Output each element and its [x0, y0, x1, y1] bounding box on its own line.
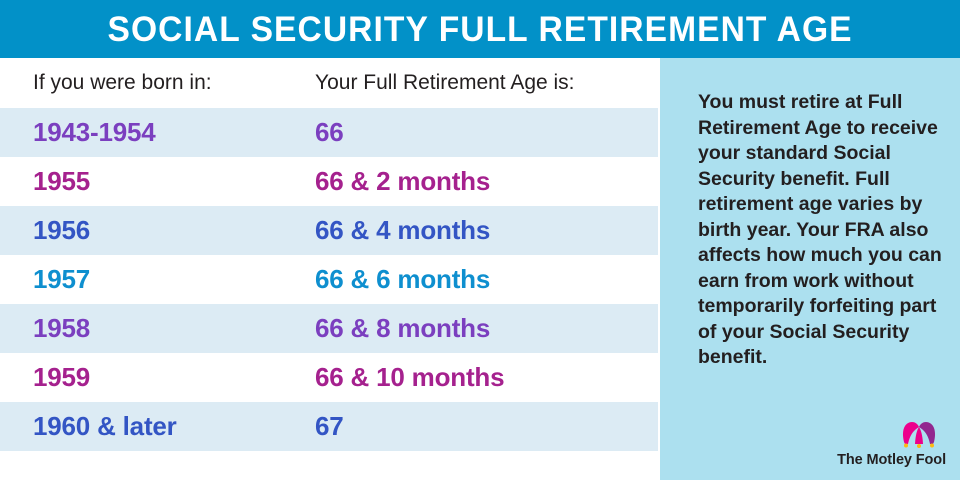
logo-wordmark: The Motley Fool: [837, 452, 946, 468]
motley-fool-logo: The Motley Fool: [836, 422, 948, 470]
table-row: 1960 & later 67: [0, 402, 658, 451]
cell-birth-year: 1959: [33, 362, 90, 393]
explanation-panel: You must retire at Full Retirement Age t…: [660, 58, 960, 480]
table-row: 1959 66 & 10 months: [0, 353, 658, 402]
cell-retirement-age: 66: [315, 117, 344, 148]
table-row: 1956 66 & 4 months: [0, 206, 658, 255]
retirement-age-table: If you were born in: Your Full Retiremen…: [0, 58, 658, 480]
cell-retirement-age: 66 & 8 months: [315, 313, 490, 344]
column-header-retirement-age: Your Full Retirement Age is:: [315, 71, 575, 95]
table-header-row: If you were born in: Your Full Retiremen…: [0, 58, 658, 108]
cell-birth-year: 1943-1954: [33, 117, 156, 148]
cell-birth-year: 1955: [33, 166, 90, 197]
cell-retirement-age: 67: [315, 411, 344, 442]
cell-retirement-age: 66 & 2 months: [315, 166, 490, 197]
column-header-birth-year: If you were born in:: [33, 71, 212, 95]
infographic-root: SOCIAL SECURITY FULL RETIREMENT AGE If y…: [0, 0, 960, 480]
table-row: 1958 66 & 8 months: [0, 304, 658, 353]
cell-birth-year: 1957: [33, 264, 90, 295]
cell-retirement-age: 66 & 10 months: [315, 362, 504, 393]
bell-right-icon: [930, 444, 934, 448]
cell-birth-year: 1956: [33, 215, 90, 246]
table-row: 1955 66 & 2 months: [0, 157, 658, 206]
table-row: 1957 66 & 6 months: [0, 255, 658, 304]
cell-birth-year: 1958: [33, 313, 90, 344]
cell-retirement-age: 66 & 6 months: [315, 264, 490, 295]
explanation-text: You must retire at Full Retirement Age t…: [698, 90, 944, 371]
cell-retirement-age: 66 & 4 months: [315, 215, 490, 246]
title-bar: SOCIAL SECURITY FULL RETIREMENT AGE: [0, 0, 960, 58]
cell-birth-year: 1960 & later: [33, 411, 177, 442]
page-title: SOCIAL SECURITY FULL RETIREMENT AGE: [107, 12, 852, 47]
bell-center-icon: [917, 444, 921, 448]
bell-left-icon: [904, 444, 908, 448]
table-row: 1943-1954 66: [0, 108, 658, 157]
jester-hat-icon: [893, 422, 945, 448]
